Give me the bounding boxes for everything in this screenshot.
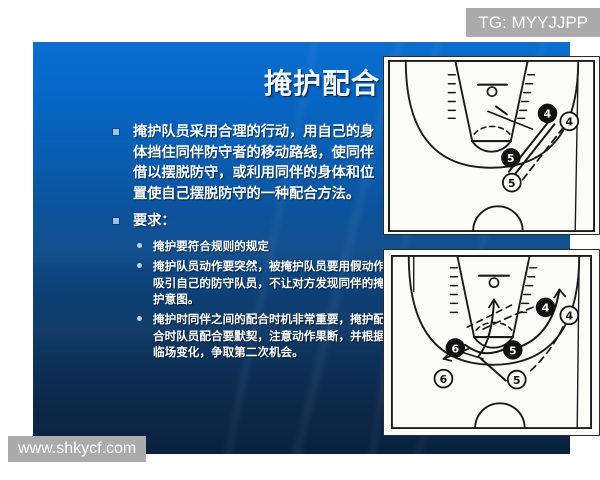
bullet-text: 要求： — [133, 213, 176, 229]
player-defense-6: 6 — [435, 370, 453, 388]
svg-text:4: 4 — [544, 108, 552, 121]
center-circle — [473, 206, 523, 231]
square-bullet-icon — [113, 129, 119, 135]
svg-text:6: 6 — [440, 373, 448, 386]
free-throw-lane — [457, 256, 529, 337]
player-defense-4: 4 — [560, 306, 578, 324]
svg-text:4: 4 — [542, 302, 550, 315]
player-defense-5: 5 — [508, 371, 526, 389]
bullet-level2: 掩护要符合规则的规定 — [111, 238, 386, 254]
svg-text:5: 5 — [507, 152, 515, 165]
bullet-level1: 掩护队员采用合理的行动，用自己的身体挡住同伴防守者的移动路线，使同伴借以摆脱防守… — [111, 122, 386, 205]
watermark-top-right: TG: MYYJJPP — [466, 8, 600, 37]
svg-text:4: 4 — [565, 116, 573, 129]
bullet-level2: 掩护时同伴之间的配合时机非常重要，掩护配合时队员配合要默契，注意动作果断，并根据… — [111, 311, 386, 360]
square-bullet-icon — [113, 218, 119, 224]
bullet-text: 掩护要符合规则的规定 — [153, 239, 269, 253]
player-offense-5: 5 — [502, 149, 520, 167]
free-throw-circle-dashed — [474, 126, 510, 134]
center-circle — [475, 403, 525, 428]
bullet-text: 掩护队员动作要突然，被掩护队员要用假动作吸引自己的防守队员，不让对方发现同伴的掩… — [153, 259, 385, 306]
slide-body: 掩护队员采用合理的行动，用自己的身体挡住同伴防守者的移动路线，使同伴借以摆脱防守… — [111, 122, 386, 365]
court-svg-bottom: 4 4 5 5 6 — [384, 250, 599, 435]
svg-text:4: 4 — [565, 310, 573, 323]
player-markers-top: 4 4 5 5 — [502, 104, 579, 191]
player-offense-4: 4 — [536, 298, 554, 316]
svg-text:5: 5 — [509, 344, 517, 357]
round-bullet-icon — [137, 316, 142, 321]
player-offense-4: 4 — [538, 104, 556, 122]
court-svg-top: 4 4 5 5 — [384, 57, 599, 234]
player-offense-5: 5 — [504, 341, 522, 359]
round-bullet-icon — [137, 263, 142, 268]
rim — [487, 87, 496, 96]
bullet-level2: 掩护队员动作要突然，被掩护队员要用假动作吸引自己的防守队员，不让对方发现同伴的掩… — [111, 258, 386, 307]
player-defense-4: 4 — [560, 112, 578, 130]
page-title: 掩护配合 — [33, 62, 380, 102]
watermark-top-text: TG: MYYJJPP — [478, 13, 588, 33]
player-offense-6: 6 — [446, 339, 464, 357]
player-defense-5: 5 — [503, 174, 521, 192]
court-boundary — [392, 256, 591, 428]
svg-text:5: 5 — [513, 374, 521, 387]
bullet-text: 掩护时同伴之间的配合时机非常重要，掩护配合时队员配合要默契，注意动作果断，并根据… — [153, 312, 385, 359]
bullet-text: 掩护队员采用合理的行动，用自己的身体挡住同伴防守者的移动路线，使同伴借以摆脱防守… — [133, 124, 374, 202]
sub-bullet-group: 掩护要符合规则的规定 掩护队员动作要突然，被掩护队员要用假动作吸引自己的防守队员… — [111, 238, 386, 361]
free-throw-lane — [455, 61, 527, 141]
watermark-bottom-text: www.shkycf.com — [18, 440, 136, 458]
svg-text:5: 5 — [508, 177, 516, 190]
bullet-level1: 要求： — [111, 211, 386, 232]
rim — [489, 278, 498, 287]
basketball-court-diagram-bottom: 4 4 5 5 6 — [383, 249, 600, 436]
watermark-bottom-left: www.shkycf.com — [8, 436, 146, 462]
svg-text:6: 6 — [452, 342, 460, 355]
basketball-court-diagram-top: 4 4 5 5 — [383, 56, 600, 235]
round-bullet-icon — [137, 243, 142, 248]
